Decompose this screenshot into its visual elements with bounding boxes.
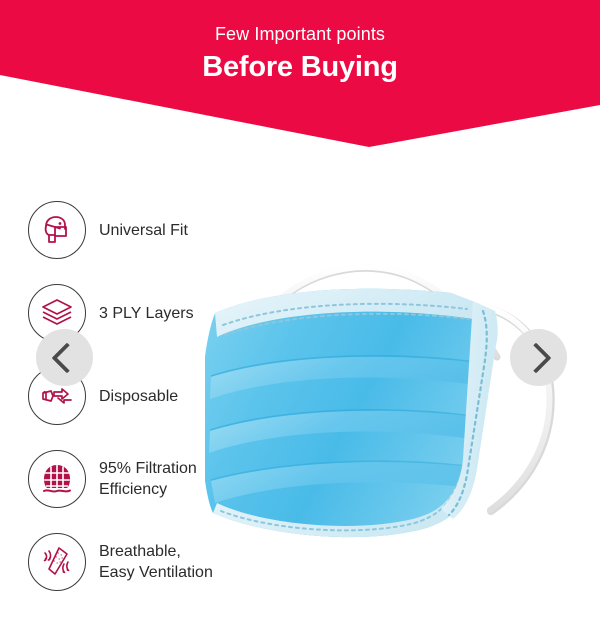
banner-subtitle: Few Important points (0, 22, 600, 46)
feature-label-ply-layers: 3 PLY Layers (99, 303, 194, 324)
product-feature-slide: Few Important points Before Buying (0, 0, 600, 620)
feature-item-universal-fit: Universal Fit (28, 196, 263, 264)
feature-label-filtration: 95% Filtration Efficiency (99, 458, 197, 500)
feature-list: Universal Fit 3 PLY Layers (28, 196, 263, 596)
carousel-next-button[interactable] (510, 329, 567, 386)
carousel-prev-button[interactable] (36, 329, 93, 386)
chevron-left-icon (51, 342, 82, 373)
feature-item-breathable: Breathable, Easy Ventilation (28, 528, 263, 596)
filtration-mesh-icon (28, 450, 86, 508)
feature-item-filtration: 95% Filtration Efficiency (28, 445, 263, 513)
feature-label-disposable: Disposable (99, 386, 178, 407)
breathable-airflow-icon (28, 533, 86, 591)
feature-label-universal-fit: Universal Fit (99, 220, 188, 241)
feature-label-breathable: Breathable, Easy Ventilation (99, 541, 213, 583)
header-banner-text: Few Important points Before Buying (0, 0, 600, 86)
banner-title: Before Buying (0, 48, 600, 86)
chevron-right-icon (520, 342, 551, 373)
masked-face-icon (28, 201, 86, 259)
